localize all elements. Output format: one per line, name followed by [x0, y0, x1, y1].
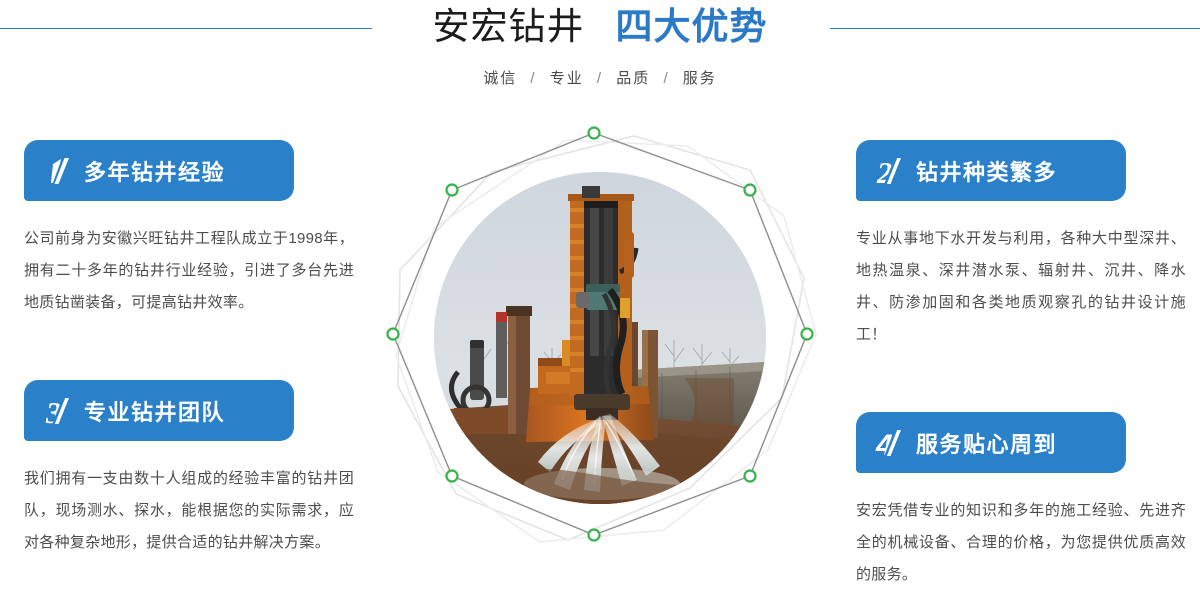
subtitle-separator-2: / [590, 70, 610, 87]
subtitle-item-4: 服务 [683, 70, 717, 87]
feature-badge-2[interactable]: 2 钻井种类繁多 [856, 140, 1126, 201]
feature-body-4: 安宏凭借专业的知识和多年的施工经验、先进齐全的机械设备、合理的价格，为您提供优质… [856, 495, 1186, 591]
feature-card-3: 3 专业钻井团队 我们拥有一支由数十人组成的经验丰富的钻井团队，现场测水、探水，… [24, 380, 360, 559]
feature-badge-2-label: 钻井种类繁多 [916, 155, 1057, 187]
feature-card-4: 4 服务贴心周到 安宏凭借专业的知识和多年的施工经验、先进齐全的机械设备、合理的… [856, 412, 1192, 591]
banner-header: 安宏钻井 四大优势 诚信 / 专业 / 品质 / 服务 [0, 0, 1200, 112]
vertex-marker-top [589, 128, 600, 139]
feature-badge-4[interactable]: 4 服务贴心周到 [856, 412, 1126, 473]
feature-card-2: 2 钻井种类繁多 专业从事地下水开发与利用，各种大中型深井、地热温泉、深井潜水泵… [856, 140, 1192, 351]
feature-badge-4-label: 服务贴心周到 [916, 427, 1057, 459]
feature-body-1: 公司前身为安徽兴旺钻井工程队成立于1998年，拥有二十多年的钻井行业经验，引进了… [24, 223, 354, 319]
subtitle-item-2: 专业 [550, 70, 584, 87]
vertex-marker-bottom [589, 530, 600, 541]
numeral-three-italic-icon: 3 [40, 390, 82, 432]
feature-body-3: 我们拥有一支由数十人组成的经验丰富的钻井团队，现场测水、探水，能根据您的实际需求… [24, 463, 354, 559]
page-title-primary: 安宏钻井 [433, 6, 585, 47]
center-graphic [370, 110, 830, 570]
numeral-four-italic-icon: 4 [872, 422, 914, 464]
page-subtitle: 诚信 / 专业 / 品质 / 服务 [0, 67, 1200, 88]
numeral-two-italic-icon: 2 [872, 150, 914, 192]
feature-badge-3[interactable]: 3 专业钻井团队 [24, 380, 294, 441]
subtitle-separator-3: / [656, 70, 676, 87]
promo-banner: 安宏钻井 四大优势 诚信 / 专业 / 品质 / 服务 [0, 0, 1200, 600]
vertex-marker-right [802, 329, 813, 340]
subtitle-item-1: 诚信 [483, 70, 517, 87]
feature-body-2: 专业从事地下水开发与利用，各种大中型深井、地热温泉、深井潜水泵、辐射井、沉井、降… [856, 223, 1186, 351]
feature-badge-1[interactable]: 多年钻井经验 [24, 140, 294, 201]
vertex-marker-left [388, 329, 399, 340]
numeral-one-italic-icon [40, 150, 82, 192]
feature-column-left: 多年钻井经验 公司前身为安徽兴旺钻井工程队成立于1998年，拥有二十多年的钻井行… [24, 140, 360, 559]
drilling-rig-photo [434, 172, 766, 504]
subtitle-separator-1: / [523, 70, 543, 87]
feature-card-1: 多年钻井经验 公司前身为安徽兴旺钻井工程队成立于1998年，拥有二十多年的钻井行… [24, 140, 360, 319]
feature-badge-1-label: 多年钻井经验 [84, 155, 225, 187]
subtitle-item-3: 品质 [616, 70, 650, 87]
feature-column-right: 2 钻井种类繁多 专业从事地下水开发与利用，各种大中型深井、地热温泉、深井潜水泵… [856, 140, 1192, 591]
page-title-accent: 四大优势 [615, 6, 767, 47]
page-title: 安宏钻井 四大优势 [0, 8, 1200, 45]
feature-badge-3-label: 专业钻井团队 [84, 395, 225, 427]
